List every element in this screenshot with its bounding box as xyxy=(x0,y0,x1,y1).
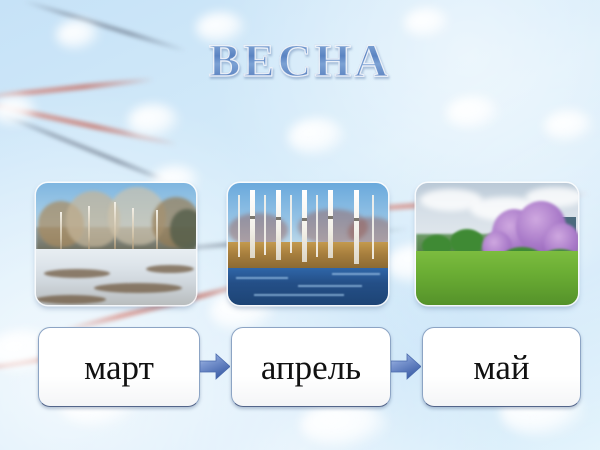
month-box-may[interactable]: май xyxy=(422,327,581,407)
april-water-ripple xyxy=(298,285,362,287)
april-birch-trunk xyxy=(302,190,307,262)
april-water-ripple xyxy=(254,294,344,296)
march-tree-crown xyxy=(170,209,196,249)
april-birch-thin xyxy=(238,195,240,257)
willow-catkin xyxy=(446,96,500,130)
may-picture[interactable] xyxy=(416,183,578,305)
willow-twig xyxy=(0,111,183,190)
willow-twig xyxy=(0,98,178,147)
arrow-march-to-april xyxy=(200,353,230,380)
willow-catkin xyxy=(128,104,180,138)
march-scene xyxy=(36,183,196,305)
april-birch-trunk xyxy=(328,190,333,258)
month-label-may: май xyxy=(473,350,529,385)
month-label-march: март xyxy=(84,350,154,385)
april-picture[interactable] xyxy=(228,183,388,305)
may-meadow xyxy=(416,251,578,305)
march-thawed-ground xyxy=(94,283,182,293)
willow-catkin xyxy=(0,96,38,126)
month-sequence: март апрель xyxy=(0,327,600,407)
april-birch-thin xyxy=(372,195,374,259)
march-thawed-ground xyxy=(36,295,106,304)
willow-catkin xyxy=(300,402,390,448)
april-birch-trunk xyxy=(250,190,255,258)
willow-catkin xyxy=(544,110,594,142)
slide-canvas: ВЕСНА xyxy=(0,0,600,450)
april-birch-thin xyxy=(316,195,318,257)
april-birch-trunk xyxy=(276,190,281,260)
may-scene xyxy=(416,183,578,305)
page-title: ВЕСНА xyxy=(209,38,391,85)
april-birch-thin xyxy=(264,195,266,255)
april-birch-trunk xyxy=(354,190,359,264)
month-box-march[interactable]: март xyxy=(38,327,200,407)
april-scene xyxy=(228,183,388,305)
march-picture[interactable] xyxy=(36,183,196,305)
willow-catkin xyxy=(288,118,346,156)
month-box-april[interactable]: апрель xyxy=(231,327,391,407)
april-water-ripple xyxy=(236,277,288,279)
april-water-ripple xyxy=(332,273,380,275)
willow-catkin xyxy=(404,8,450,38)
april-birch-thin xyxy=(290,195,292,253)
arrow-april-to-may xyxy=(391,353,421,380)
march-thawed-ground xyxy=(146,265,194,273)
title-container: ВЕСНА xyxy=(0,38,600,85)
month-label-april: апрель xyxy=(261,350,361,385)
picture-row xyxy=(0,183,600,305)
march-thawed-ground xyxy=(44,269,110,278)
